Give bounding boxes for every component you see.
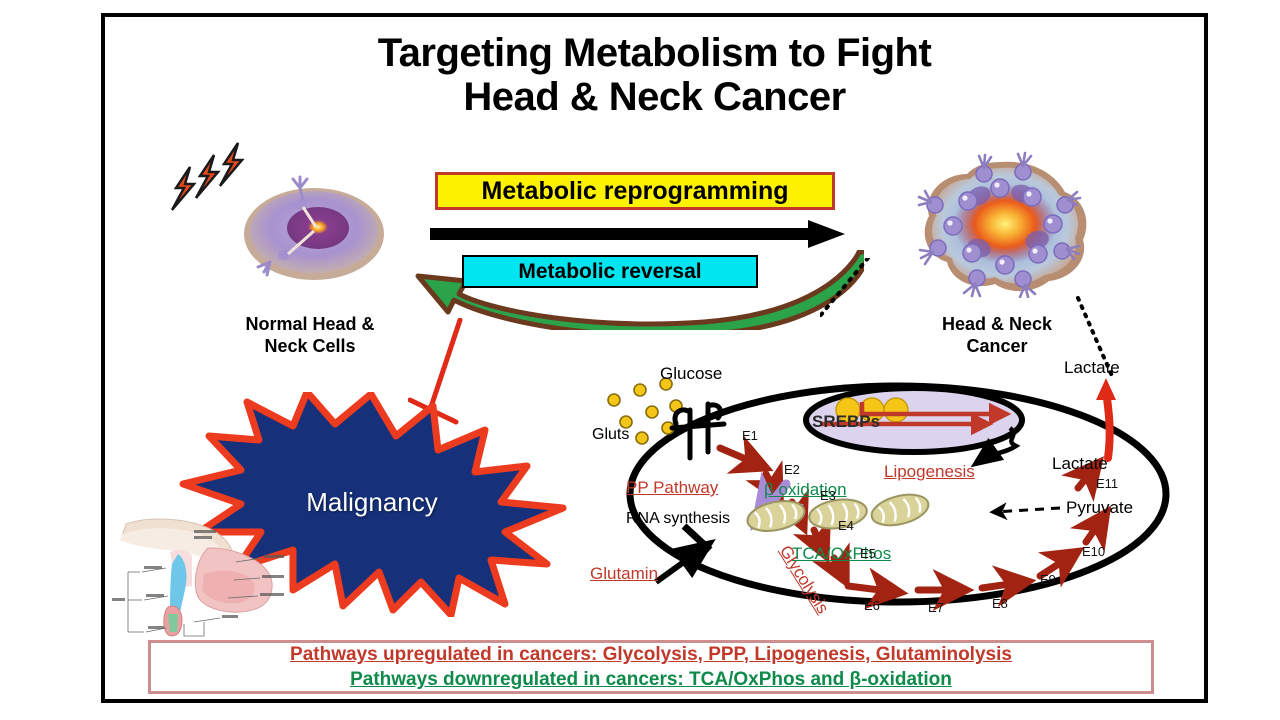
lipogenesis-label: Lipogenesis [884,462,975,482]
diagram-canvas: Targeting Metabolism to Fight Head & Nec… [0,0,1280,720]
gluts-label: Gluts [592,426,629,444]
metabolic-reprogramming-arrow [430,218,845,250]
enzyme-e8: E8 [992,596,1008,611]
stress-bolts-icon [160,140,280,220]
pp-pathway-label: PP Pathway [626,478,718,498]
malignancy-label: Malignancy [306,487,438,518]
enzyme-e1: E1 [742,428,758,443]
metabolic-reversal-label: Metabolic reversal [462,255,758,288]
enzyme-e11: E11 [1096,476,1118,491]
caption-downregulated: Pathways downregulated in cancers: TCA/O… [350,667,952,692]
legend-caption: Pathways upregulated in cancers: Glycoly… [148,640,1154,694]
normal-cell-label: Normal Head & Neck Cells [245,313,374,357]
srebps-label: SREBPs [812,412,880,432]
enzyme-e5: E5 [860,546,876,561]
enzyme-e4: E4 [838,518,854,533]
enzyme-e2: E2 [784,462,800,477]
enzyme-e10: E10 [1082,544,1105,559]
rna-synthesis-label: RNA synthesis [626,510,730,528]
head-neck-anatomy-inset [108,518,293,640]
enzyme-e6: E6 [864,598,880,613]
glucose-label: Glucose [660,364,722,384]
enzyme-e7: E7 [928,600,944,615]
metabolic-reprogramming-label: Metabolic reprogramming [435,172,835,210]
tca-oxphos-label: TCA/OxPhos [792,544,891,564]
enzyme-e9: E9 [1040,572,1056,587]
metabolic-pathway-panel: Glucose Gluts Glutamin PP Pathway RNA sy… [596,366,1176,618]
glutamin-label: Glutamin [590,564,658,584]
pyruvate-label: Pyruvate [1066,498,1133,518]
enzyme-e3: E3 [820,488,836,503]
title-line-2: Head & Neck Cancer [105,75,1204,119]
caption-upregulated: Pathways upregulated in cancers: Glycoly… [290,642,1012,667]
cancer-to-pathway-connectors [820,258,1120,378]
title-line-1: Targeting Metabolism to Fight [105,31,1204,75]
lactate-intracellular-label: Lactate [1052,454,1108,474]
page-title: Targeting Metabolism to Fight Head & Nec… [105,31,1204,119]
